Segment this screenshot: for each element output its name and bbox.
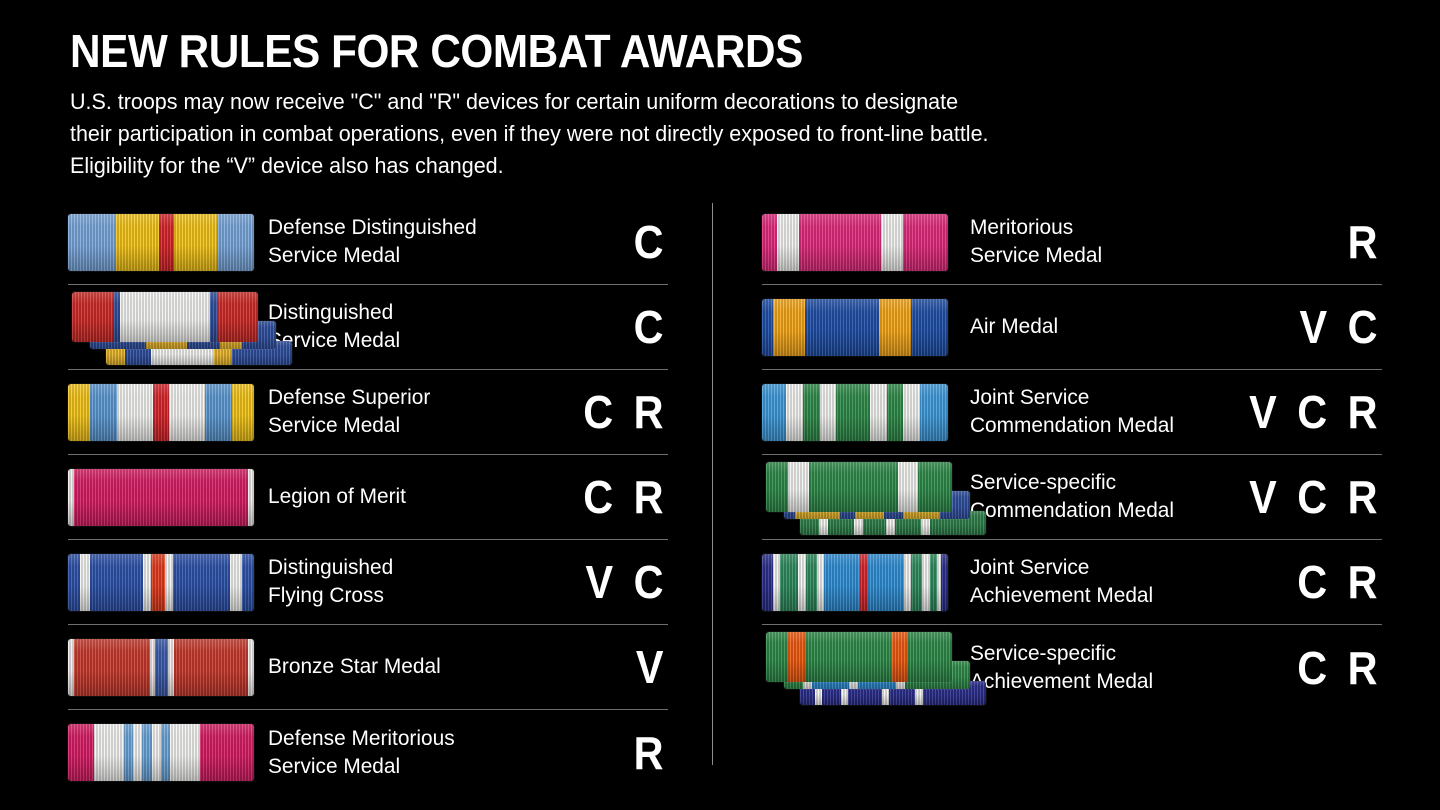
ribbon-stripe bbox=[142, 724, 151, 781]
ribbon-stripe bbox=[870, 384, 887, 441]
service-specific-achievement-medal-ribbon bbox=[766, 632, 952, 682]
joint-service-commendation-medal-ribbon bbox=[762, 384, 948, 441]
award-row: Service-specificCommendation MedalV C R bbox=[762, 455, 1382, 540]
award-name: Service-specificCommendation Medal bbox=[970, 469, 1203, 524]
ribbon-cell bbox=[68, 455, 268, 540]
ribbon-cell bbox=[762, 285, 970, 370]
device-letters: R bbox=[553, 730, 668, 776]
award-name: MeritoriousService Medal bbox=[970, 214, 1203, 269]
subtitle-line-1: U.S. troops may now receive "C" and "R" … bbox=[70, 86, 1302, 118]
ribbon-cell bbox=[68, 200, 268, 285]
ribbon-stripe bbox=[773, 554, 780, 611]
award-name-line: Legion of Merit bbox=[268, 483, 526, 511]
joint-service-achievement-medal-ribbon bbox=[762, 554, 948, 611]
award-name-line: Service Medal bbox=[268, 753, 526, 781]
award-name: DistinguishedService Medal bbox=[268, 299, 532, 354]
device-letters: V bbox=[553, 644, 668, 690]
award-name-line: Air Medal bbox=[970, 313, 1197, 341]
ribbon-stripe bbox=[887, 384, 904, 441]
ribbon-stripe bbox=[898, 462, 918, 512]
ribbon-stripe bbox=[248, 639, 254, 696]
ribbon-cell bbox=[762, 455, 970, 540]
ribbon-stripe bbox=[762, 299, 773, 356]
ribbon-stripe bbox=[159, 214, 174, 271]
award-name-line: Defense Distinguished bbox=[268, 214, 526, 242]
award-row: Service-specificAchievement MedalC R bbox=[762, 625, 1382, 710]
award-row: Defense SuperiorService MedalC R bbox=[68, 370, 668, 455]
ribbon-stripe bbox=[766, 462, 788, 512]
page-title: NEW RULES FOR COMBAT AWARDS bbox=[70, 28, 1284, 74]
award-name-line: Defense Superior bbox=[268, 384, 526, 412]
ribbon-stripe bbox=[242, 554, 254, 611]
meritorious-service-medal-ribbon bbox=[762, 214, 948, 271]
award-name-line: Achievement Medal bbox=[970, 668, 1197, 696]
distinguished-flying-cross-ribbon bbox=[68, 554, 254, 611]
award-row: Legion of MeritC R bbox=[68, 455, 668, 540]
ribbon-cell bbox=[68, 370, 268, 455]
ribbon-stripe bbox=[817, 554, 824, 611]
award-row: DistinguishedFlying CrossV C bbox=[68, 540, 668, 625]
ribbon-stripe bbox=[72, 292, 113, 342]
ribbon-stripe bbox=[152, 724, 161, 781]
ribbon-stripe bbox=[762, 214, 777, 271]
ribbon-stripe bbox=[217, 214, 254, 271]
ribbon-stripe bbox=[809, 462, 898, 512]
award-name: Air Medal bbox=[970, 313, 1203, 341]
ribbon-stripe bbox=[820, 384, 837, 441]
award-name-line: Commendation Medal bbox=[970, 497, 1197, 525]
ribbon-stripe bbox=[80, 554, 90, 611]
ribbon-stripe bbox=[922, 554, 929, 611]
ribbon-stripe bbox=[116, 214, 159, 271]
award-name-line: Service-specific bbox=[970, 469, 1197, 497]
ribbon-stripe bbox=[773, 299, 805, 356]
device-letters: C bbox=[553, 219, 668, 265]
ribbon-stripe bbox=[798, 554, 805, 611]
award-name-line: Distinguished bbox=[268, 299, 526, 327]
award-name-line: Service Medal bbox=[268, 242, 526, 270]
ribbon-stripe bbox=[891, 632, 908, 682]
device-letters: V C R bbox=[1227, 389, 1382, 435]
ribbon-stripe bbox=[799, 214, 881, 271]
ribbon-stripe bbox=[879, 299, 911, 356]
award-name-line: Service Medal bbox=[268, 412, 526, 440]
ribbon-stripe bbox=[120, 292, 209, 342]
awards-columns: Defense DistinguishedService MedalCDisti… bbox=[0, 200, 1440, 780]
award-name-line: Service Medal bbox=[970, 242, 1197, 270]
award-name: Bronze Star Medal bbox=[268, 653, 532, 681]
ribbon-stripe bbox=[762, 554, 773, 611]
ribbon-stripe bbox=[68, 724, 94, 781]
ribbon-stripe bbox=[169, 384, 205, 441]
ribbon-stripe bbox=[94, 724, 124, 781]
award-row: MeritoriousService MedalR bbox=[762, 200, 1382, 285]
ribbon-stripe bbox=[68, 384, 90, 441]
ribbon-stripe bbox=[74, 639, 150, 696]
award-name: DistinguishedFlying Cross bbox=[268, 554, 532, 609]
service-specific-commendation-medal-ribbon bbox=[766, 462, 952, 512]
device-letters: C bbox=[553, 304, 668, 350]
ribbon-cell bbox=[68, 625, 268, 710]
ribbon-stripe bbox=[155, 639, 168, 696]
ribbon-stripe bbox=[777, 214, 799, 271]
award-name-line: Achievement Medal bbox=[970, 582, 1197, 610]
ribbon-stripe bbox=[762, 384, 786, 441]
ribbon-stripe bbox=[90, 384, 116, 441]
award-row: DistinguishedService MedalC bbox=[68, 285, 668, 370]
ribbon-stripe bbox=[911, 554, 922, 611]
ribbon-stripe bbox=[200, 724, 254, 781]
device-letters: R bbox=[1227, 219, 1382, 265]
ribbon-stripe bbox=[918, 462, 951, 512]
award-name-line: Service Medal bbox=[268, 327, 526, 355]
ribbon-stripe bbox=[907, 632, 952, 682]
ribbon-stripe bbox=[161, 724, 170, 781]
device-letters: V C R bbox=[1227, 474, 1382, 520]
ribbon-stripe bbox=[90, 554, 143, 611]
ribbon-stack bbox=[68, 285, 300, 370]
page-subtitle: U.S. troops may now receive "C" and "R" … bbox=[70, 86, 1302, 182]
ribbon-cell bbox=[762, 200, 970, 285]
legion-of-merit-ribbon bbox=[68, 469, 254, 526]
ribbon-stripe bbox=[805, 632, 891, 682]
award-name-line: Distinguished bbox=[268, 554, 526, 582]
defense-superior-service-medal-ribbon bbox=[68, 384, 254, 441]
award-name-line: Joint Service bbox=[970, 554, 1197, 582]
ribbon-stripe bbox=[68, 214, 116, 271]
bronze-star-medal-ribbon bbox=[68, 639, 254, 696]
ribbon-stripe bbox=[165, 554, 173, 611]
ribbon-stack bbox=[762, 455, 994, 540]
header: NEW RULES FOR COMBAT AWARDS U.S. troops … bbox=[70, 28, 1390, 182]
ribbon-stripe bbox=[74, 469, 249, 526]
device-letters: C R bbox=[553, 474, 668, 520]
infographic-root: NEW RULES FOR COMBAT AWARDS U.S. troops … bbox=[0, 0, 1440, 810]
award-name-line: Bronze Star Medal bbox=[268, 653, 526, 681]
ribbon-stripe bbox=[806, 554, 817, 611]
defense-distinguished-service-medal-ribbon bbox=[68, 214, 254, 271]
ribbon-stripe bbox=[881, 214, 903, 271]
air-medal-ribbon bbox=[762, 299, 948, 356]
defense-meritorious-service-medal-ribbon bbox=[68, 724, 254, 781]
award-name: Defense DistinguishedService Medal bbox=[268, 214, 532, 269]
award-name: Defense MeritoriousService Medal bbox=[268, 725, 532, 780]
ribbon-stripe bbox=[920, 384, 948, 441]
award-name: Legion of Merit bbox=[268, 483, 532, 511]
ribbon-cell bbox=[762, 540, 970, 625]
ribbon-stripe bbox=[780, 554, 798, 611]
award-name-line: Meritorious bbox=[970, 214, 1197, 242]
award-name-line: Joint Service bbox=[970, 384, 1197, 412]
device-letters: C R bbox=[553, 389, 668, 435]
ribbon-stripe bbox=[232, 384, 254, 441]
ribbon-stack bbox=[762, 625, 994, 710]
ribbon-cell bbox=[68, 710, 268, 795]
ribbon-stripe bbox=[68, 554, 80, 611]
ribbon-stripe bbox=[217, 292, 258, 342]
ribbon-stripe bbox=[210, 292, 217, 342]
award-row: Joint ServiceAchievement MedalC R bbox=[762, 540, 1382, 625]
award-row: Air MedalV C bbox=[762, 285, 1382, 370]
ribbon-stripe bbox=[248, 469, 254, 526]
award-name: Joint ServiceCommendation Medal bbox=[970, 384, 1203, 439]
ribbon-stripe bbox=[860, 554, 867, 611]
ribbon-stripe bbox=[803, 384, 820, 441]
ribbon-stripe bbox=[124, 724, 133, 781]
subtitle-line-2: their participation in combat operations… bbox=[70, 118, 1302, 150]
award-name-line: Commendation Medal bbox=[970, 412, 1197, 440]
ribbon-cell bbox=[762, 625, 970, 710]
ribbon-stripe bbox=[903, 384, 920, 441]
ribbon-stripe bbox=[824, 554, 860, 611]
ribbon-cell bbox=[762, 370, 970, 455]
award-name: Defense SuperiorService Medal bbox=[268, 384, 532, 439]
award-name-line: Flying Cross bbox=[268, 582, 526, 610]
device-letters: V C bbox=[553, 559, 668, 605]
award-name-line: Service-specific bbox=[970, 640, 1197, 668]
award-row: Joint ServiceCommendation MedalV C R bbox=[762, 370, 1382, 455]
device-letters: C R bbox=[1227, 645, 1382, 691]
ribbon-stripe bbox=[904, 554, 911, 611]
device-letters: V C bbox=[1227, 304, 1382, 350]
ribbon-stripe bbox=[170, 724, 200, 781]
ribbon-stripe bbox=[153, 384, 169, 441]
ribbon-cell bbox=[68, 540, 268, 625]
ribbon-stripe bbox=[805, 299, 879, 356]
ribbon-stripe bbox=[911, 299, 948, 356]
award-row: Defense MeritoriousService MedalR bbox=[68, 710, 668, 795]
ribbon-stripe bbox=[173, 554, 230, 611]
award-name-line: Defense Meritorious bbox=[268, 725, 526, 753]
ribbon-stripe bbox=[930, 554, 937, 611]
ribbon-stripe bbox=[786, 384, 803, 441]
awards-column-right: MeritoriousService MedalRAir MedalV CJoi… bbox=[762, 200, 1382, 710]
ribbon-stripe bbox=[151, 554, 165, 611]
ribbon-stripe bbox=[205, 384, 231, 441]
ribbon-stripe bbox=[766, 632, 788, 682]
ribbon-cell bbox=[68, 285, 268, 370]
ribbon-stripe bbox=[230, 554, 242, 611]
ribbon-stripe bbox=[788, 462, 808, 512]
ribbon-stripe bbox=[113, 292, 120, 342]
ribbon-stripe bbox=[174, 639, 248, 696]
award-name: Service-specificAchievement Medal bbox=[970, 640, 1203, 695]
distinguished-service-medal-ribbon bbox=[72, 292, 258, 342]
ribbon-stripe bbox=[133, 724, 142, 781]
award-name: Joint ServiceAchievement Medal bbox=[970, 554, 1203, 609]
ribbon-stripe bbox=[941, 554, 948, 611]
ribbon-stripe bbox=[836, 384, 869, 441]
award-row: Defense DistinguishedService MedalC bbox=[68, 200, 668, 285]
ribbon-stripe bbox=[903, 214, 948, 271]
award-row: Bronze Star MedalV bbox=[68, 625, 668, 710]
device-letters: C R bbox=[1227, 559, 1382, 605]
ribbon-stripe bbox=[143, 554, 151, 611]
ribbon-stripe bbox=[788, 632, 805, 682]
ribbon-stripe bbox=[117, 384, 153, 441]
ribbon-stripe bbox=[868, 554, 904, 611]
awards-column-left: Defense DistinguishedService MedalCDisti… bbox=[68, 200, 668, 795]
subtitle-line-3: Eligibility for the “V” device also has … bbox=[70, 150, 1302, 182]
ribbon-stripe bbox=[174, 214, 217, 271]
